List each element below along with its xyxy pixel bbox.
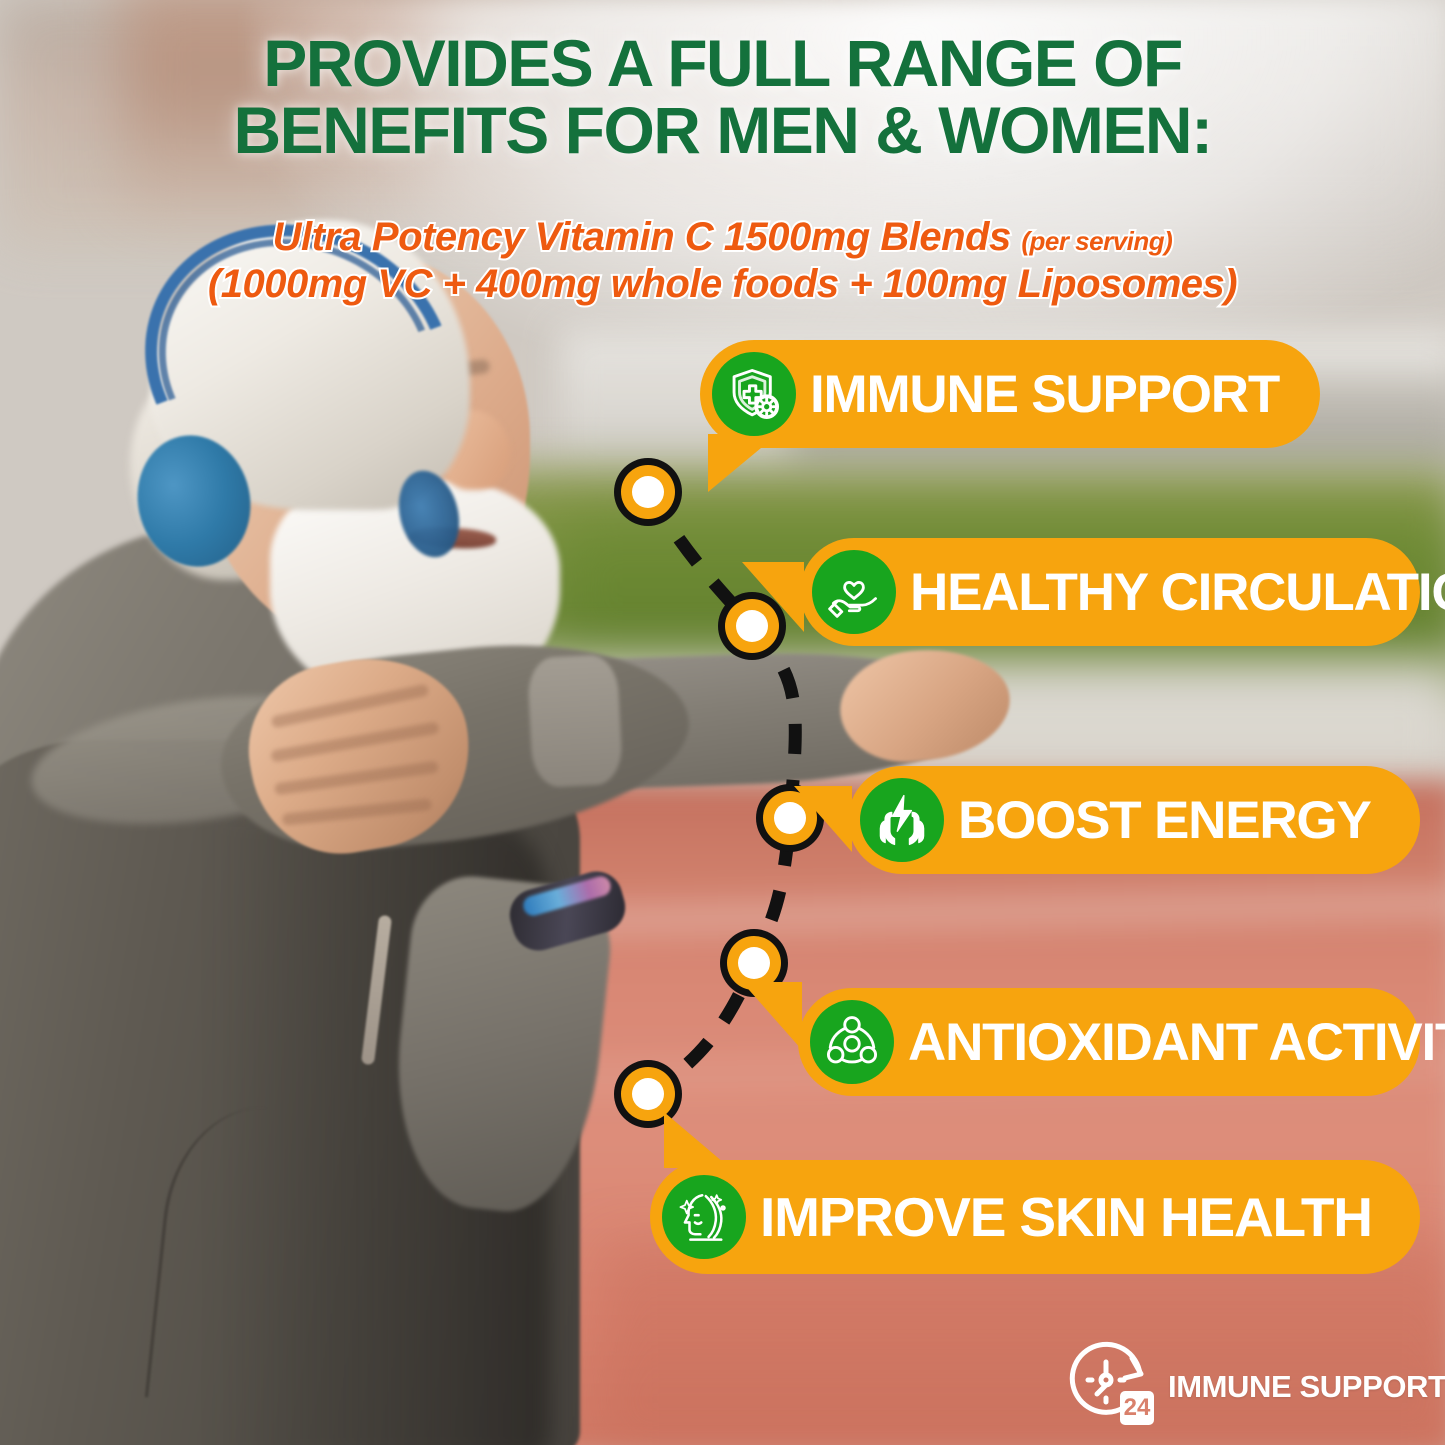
benefit-label: ANTIOXIDANT ACTIVITY [908, 1012, 1445, 1073]
benefit-label: HEALTHY CIRCULATION [910, 562, 1445, 623]
clock-24-icon: 24 [1062, 1336, 1158, 1437]
badge-tail [742, 982, 802, 1050]
benefit-badge-immune-support[interactable]: IMMUNE SUPPORT [700, 340, 1320, 448]
subheading-line-2: (1000mg VC + 400mg whole foods + 100mg L… [0, 261, 1445, 308]
sleeve-cuff [527, 654, 624, 789]
benefit-badge-improve-skin-health[interactable]: IMPROVE SKIN HEALTH [650, 1160, 1420, 1274]
face-skin-icon [662, 1175, 746, 1259]
subheading-main: Ultra Potency Vitamin C 1500mg Blends [273, 215, 1011, 259]
benefit-badge-antioxidant-activity[interactable]: ANTIOXIDANT ACTIVITY [798, 988, 1420, 1096]
benefit-badge-boost-energy[interactable]: BOOST ENERGY [848, 766, 1420, 874]
infographic-canvas: PROVIDES A FULL RANGE OF BENEFITS FOR ME… [0, 0, 1445, 1445]
main-heading: PROVIDES A FULL RANGE OF BENEFITS FOR ME… [0, 30, 1445, 165]
molecule-cluster-icon [810, 1000, 894, 1084]
benefit-label: IMMUNE SUPPORT [810, 364, 1313, 425]
benefit-label: BOOST ENERGY [958, 790, 1405, 851]
badge-tail [742, 562, 804, 632]
person-stretching [0, 180, 730, 1445]
footer-label: IMMUNE SUPPORT* [1168, 1369, 1445, 1405]
badge-tail [794, 786, 852, 852]
footer-immune-support-logo: 24 IMMUNE SUPPORT* [1062, 1336, 1445, 1437]
hand-heart-icon [812, 550, 896, 634]
heading-line-2: BENEFITS FOR MEN & WOMEN: [0, 97, 1445, 164]
sub-heading: Ultra Potency Vitamin C 1500mg Blends (p… [0, 214, 1445, 308]
badge-tail [664, 1112, 730, 1168]
badge-tail [708, 434, 778, 492]
heading-line-1: PROVIDES A FULL RANGE OF [263, 26, 1182, 100]
clock-badge-number: 24 [1124, 1394, 1151, 1421]
hands-lightning-icon [860, 778, 944, 862]
benefit-label: IMPROVE SKIN HEALTH [760, 1185, 1406, 1249]
benefit-badge-healthy-circulation[interactable]: HEALTHY CIRCULATION [800, 538, 1420, 646]
subheading-per-serving: (per serving) [1021, 226, 1172, 256]
shield-virus-icon [712, 352, 796, 436]
